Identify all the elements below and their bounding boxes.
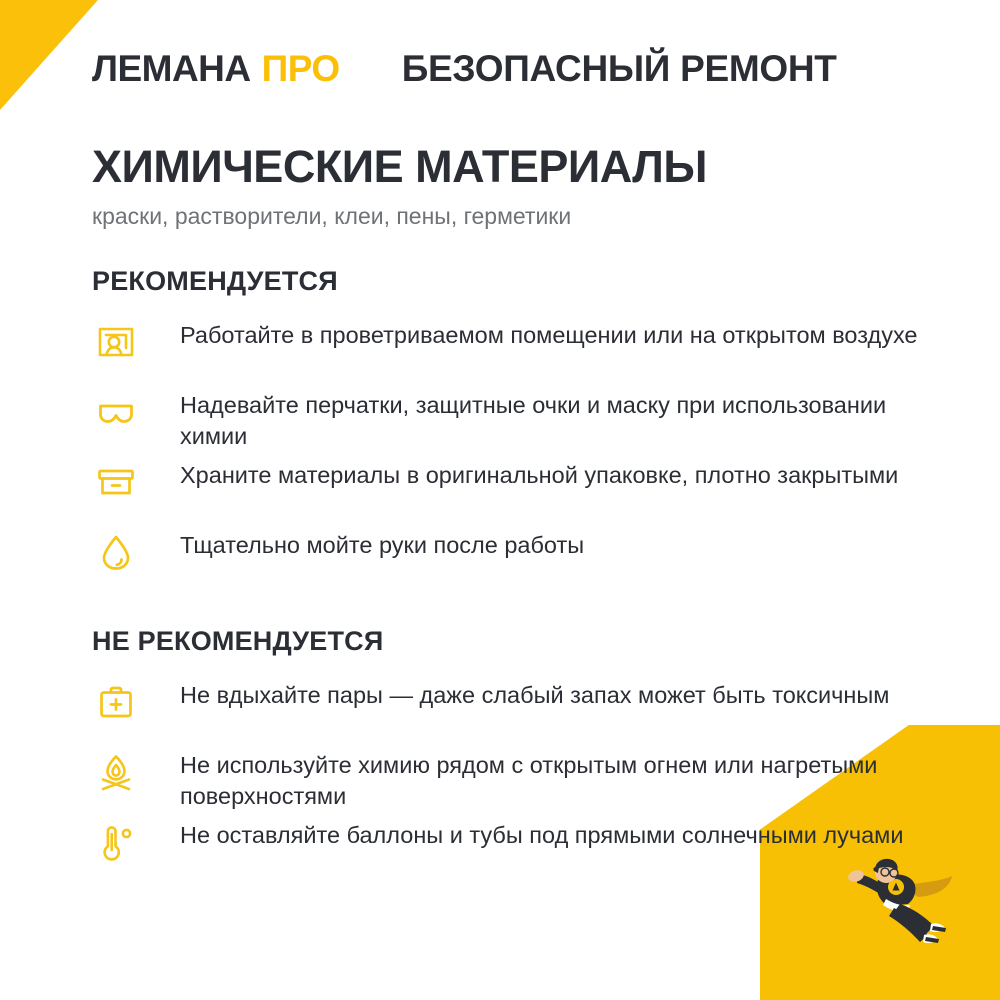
- header-title: БЕЗОПАСНЫЙ РЕМОНТ: [402, 50, 837, 87]
- thermometer-icon: [92, 815, 140, 869]
- list-item-text: Работайте в проветриваемом помещении или…: [180, 317, 918, 351]
- storage-box-icon: [92, 455, 140, 509]
- safety-goggles-icon: [92, 385, 140, 439]
- page-header: ЛЕМАНАПРО БЕЗОПАСНЫЙ РЕМОНТ: [92, 40, 1000, 96]
- ventilated-room-icon: [92, 315, 140, 369]
- list-item: Не вдыхайте пары — даже слабый запах мож…: [92, 677, 950, 747]
- list-item-text: Тщательно мойте руки после работы: [180, 527, 584, 561]
- list-item-text: Храните материалы в оригинальной упаковк…: [180, 457, 898, 491]
- list-item: Надевайте перчатки, защитные очки и маск…: [92, 387, 950, 457]
- recommended-item-list: Работайте в проветриваемом помещении или…: [92, 317, 950, 597]
- list-item: Работайте в проветриваемом помещении или…: [92, 317, 950, 387]
- list-item-text: Не вдыхайте пары — даже слабый запах мож…: [180, 677, 889, 711]
- logo-primary-text: ЛЕМАНА: [92, 48, 251, 89]
- top-left-corner-accent: [0, 0, 100, 110]
- brand-logo: ЛЕМАНАПРО: [92, 50, 340, 87]
- list-item: Храните материалы в оригинальной упаковк…: [92, 457, 950, 527]
- list-item-text: Не используйте химию рядом с открытым ог…: [180, 747, 940, 813]
- page-title: ХИМИЧЕСКИЕ МАТЕРИАЛЫ: [92, 143, 940, 190]
- list-item: Тщательно мойте руки после работы: [92, 527, 950, 597]
- campfire-icon: [92, 745, 140, 799]
- section-heading-not-recommended: НЕ РЕКОМЕНДУЕТСЯ: [92, 628, 950, 655]
- logo-secondary-text: ПРО: [262, 48, 340, 89]
- water-drop-icon: [92, 525, 140, 579]
- list-item: Не используйте химию рядом с открытым ог…: [92, 747, 950, 817]
- section-heading-recommended: РЕКОМЕНДУЕТСЯ: [92, 268, 950, 295]
- flying-superhero-mascot: [800, 842, 980, 962]
- list-item-text: Не оставляйте баллоны и тубы под прямыми…: [180, 817, 903, 851]
- section-recommended: РЕКОМЕНДУЕТСЯ Работайте в проветриваемом…: [92, 268, 950, 597]
- first-aid-kit-icon: [92, 675, 140, 729]
- page-subtitle: краски, растворители, клеи, пены, гермет…: [92, 203, 940, 231]
- title-block: ХИМИЧЕСКИЕ МАТЕРИАЛЫ краски, растворител…: [92, 143, 940, 231]
- list-item-text: Надевайте перчатки, защитные очки и маск…: [180, 387, 940, 453]
